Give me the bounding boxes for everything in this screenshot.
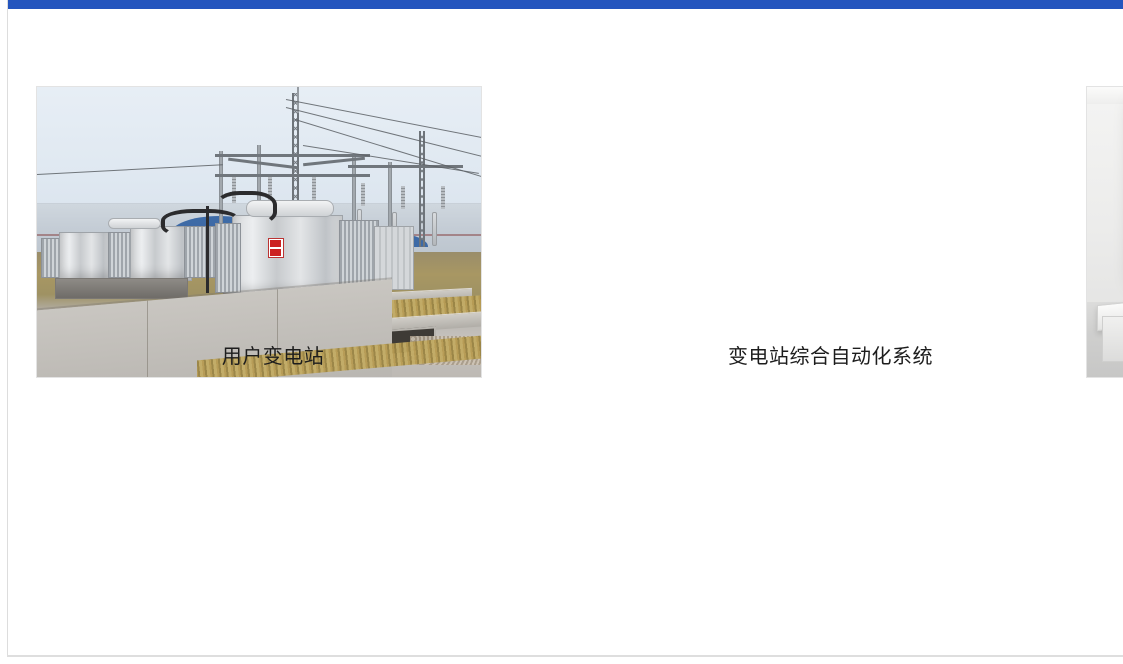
figure-caption-substation: 用户变电站 bbox=[8, 343, 538, 371]
sign-stripe-2 bbox=[270, 249, 281, 256]
conservator-tank-small bbox=[108, 218, 161, 230]
insulator-string-6 bbox=[441, 186, 445, 209]
figure-card-substation: 用户变电站 bbox=[8, 9, 538, 409]
transformer-foundation-left bbox=[55, 278, 188, 298]
sign-stripe-1 bbox=[270, 240, 281, 247]
main-transformer-tank bbox=[232, 215, 343, 296]
cable-bundle-main bbox=[215, 191, 277, 226]
insulator-string-3 bbox=[312, 177, 316, 203]
control-room-render[interactable]: 变电站综合自动化系统 主接线图 遥信信息 遥测信息 曲线报表 系统设置 bbox=[1086, 86, 1123, 378]
transformer-nameplate-sign bbox=[268, 238, 284, 258]
figure-caption-control-room: 变电站综合自动化系统 bbox=[538, 343, 1123, 371]
bushing-right-3 bbox=[432, 212, 437, 247]
lattice-tower-right bbox=[419, 131, 425, 247]
page-root: 用户变电站 变电站综合自动化系统 bbox=[0, 0, 1123, 664]
page-bottom-border bbox=[7, 655, 1123, 657]
gantry-beam-upper bbox=[215, 154, 370, 157]
back-wall bbox=[1087, 87, 1123, 319]
top-accent-bar bbox=[8, 0, 1123, 9]
down-conductor bbox=[206, 206, 209, 293]
content-area: 用户变电站 变电站综合自动化系统 bbox=[8, 9, 1123, 655]
transformer-1-tank bbox=[59, 232, 112, 281]
ceiling bbox=[1087, 87, 1123, 104]
substation-scene bbox=[37, 87, 481, 377]
figure-card-control-room: 变电站综合自动化系统 主接线图 遥信信息 遥测信息 曲线报表 系统设置 bbox=[538, 9, 1123, 409]
insulator-string-5 bbox=[401, 186, 405, 209]
control-room-scene: 变电站综合自动化系统 主接线图 遥信信息 遥测信息 曲线报表 系统设置 bbox=[1087, 87, 1123, 377]
substation-photo[interactable] bbox=[36, 86, 482, 378]
figure-gallery: 用户变电站 变电站综合自动化系统 bbox=[8, 9, 1123, 409]
gantry-beam-lower bbox=[215, 174, 370, 177]
insulator-string-4 bbox=[361, 183, 365, 206]
